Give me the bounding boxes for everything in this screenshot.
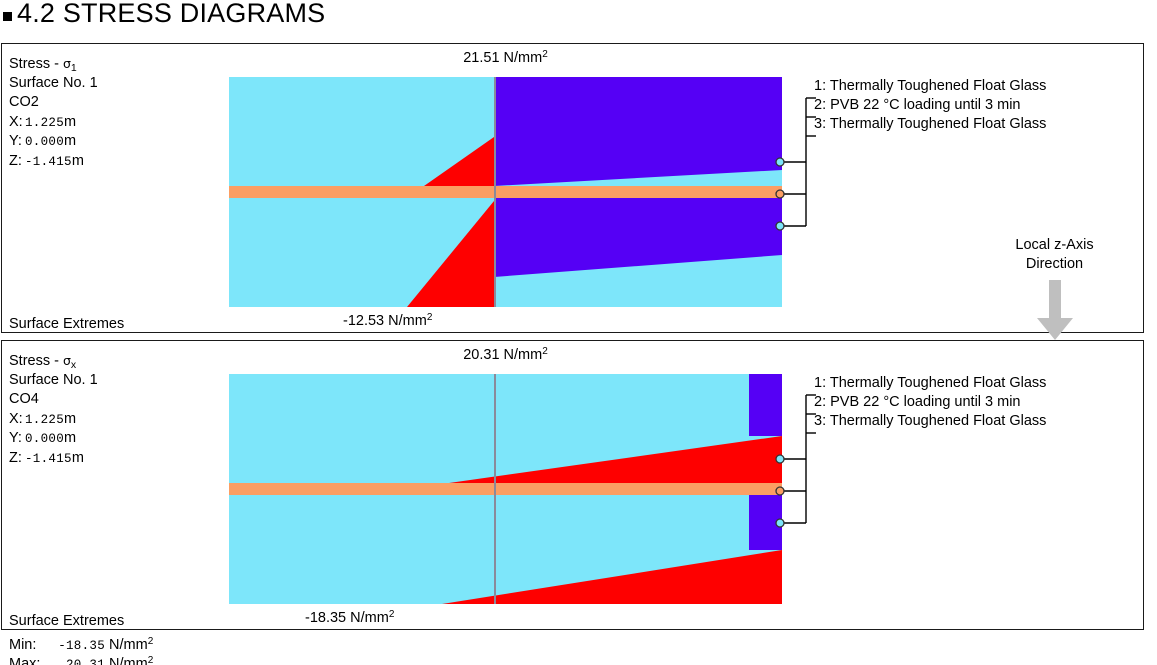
coord-y-unit: m xyxy=(64,430,76,446)
chart-min-label-wrap: -18.35 N/mm2 xyxy=(305,609,394,626)
coord-y-axis: Y: xyxy=(9,429,25,449)
min-label-exponent: 2 xyxy=(427,312,433,323)
layer-marker-bottom-icon xyxy=(776,222,784,230)
coord-z-unit: m xyxy=(72,450,84,466)
extremes-max-unit: N/mm xyxy=(109,656,148,665)
zero-stress-axis xyxy=(494,374,496,604)
stress-symbol: σ xyxy=(63,353,71,368)
coord-z-axis: Z: xyxy=(9,152,25,172)
coord-y-axis: Y: xyxy=(9,132,25,152)
stress-diagram-panel: Stress - σx Surface No. 1 CO4 X:1.225m Y… xyxy=(1,340,1144,630)
z-axis-title-line1: Local z-Axis xyxy=(967,236,1142,255)
negative-stress-lower xyxy=(442,550,782,604)
stress-subscript: x xyxy=(71,359,76,371)
extremes-max-key: Max: xyxy=(9,655,47,665)
z-axis-title-line2: Direction xyxy=(967,255,1142,274)
chart-min-label: -12.53 N/mm xyxy=(343,313,427,329)
extremes-max-value: 20.31 xyxy=(47,656,105,665)
legend-item-1: 1: Thermally Toughened Float Glass xyxy=(814,374,1046,393)
stress-type-label: Stress - xyxy=(9,353,63,369)
coord-y-value: 0.000 xyxy=(25,432,64,446)
coord-z-row: Z:-1.415m xyxy=(9,152,98,172)
chart-max-label-wrap: 20.31 N/mm2 xyxy=(229,346,782,363)
layer-marker-bottom-icon xyxy=(776,519,784,527)
stress-chart xyxy=(229,77,782,307)
stress-type-row: Stress - σx xyxy=(9,351,98,371)
surface-label: Surface No. 1 xyxy=(9,371,98,391)
stress-chart xyxy=(229,374,782,604)
coord-z-axis: Z: xyxy=(9,449,25,469)
down-arrow-icon xyxy=(1035,280,1075,340)
coord-z-unit: m xyxy=(72,153,84,169)
extremes-title: Surface Extremes xyxy=(9,612,153,632)
min-label-exponent: 2 xyxy=(389,609,395,620)
positive-stress-lower xyxy=(494,198,782,277)
legend-item-3: 3: Thermally Toughened Float Glass xyxy=(814,115,1046,134)
legend-item-1: 1: Thermally Toughened Float Glass xyxy=(814,77,1046,96)
chart-min-label: -18.35 N/mm xyxy=(305,610,389,626)
coord-y-unit: m xyxy=(64,133,76,149)
max-label-exponent: 2 xyxy=(542,49,548,60)
extremes-title: Surface Extremes xyxy=(9,315,153,335)
result-info-block: Stress - σx Surface No. 1 CO4 X:1.225m Y… xyxy=(9,351,98,468)
layer-marker-top-icon xyxy=(776,158,784,166)
stress-diagrams-page: 4.2 STRESS DIAGRAMS Stress - σ1 Surface … xyxy=(0,0,1157,665)
zero-stress-axis xyxy=(494,77,496,307)
stress-subscript: 1 xyxy=(71,62,77,74)
stress-diagram-panel: Stress - σ1 Surface No. 1 CO2 X:1.225m Y… xyxy=(1,43,1144,333)
extremes-min-row: Min:-18.35 N/mm2 xyxy=(9,632,153,652)
coord-y-row: Y:0.000m xyxy=(9,429,98,449)
coord-x-row: X:1.225m xyxy=(9,410,98,430)
chart-max-label-wrap: 21.51 N/mm2 xyxy=(229,49,782,66)
extremes-max-row: Max:20.31 N/mm2 xyxy=(9,651,153,665)
chart-max-label: 20.31 N/mm xyxy=(463,347,542,363)
layer-marker-mid-icon xyxy=(776,487,784,495)
coord-z-value: -1.415 xyxy=(25,452,72,466)
positive-stress-upper xyxy=(494,77,782,186)
chart-max-label: 21.51 N/mm xyxy=(463,50,542,66)
square-bullet-icon xyxy=(3,12,12,21)
legend-item-3: 3: Thermally Toughened Float Glass xyxy=(814,412,1046,431)
page-header: 4.2 STRESS DIAGRAMS xyxy=(0,0,1157,40)
coord-x-value: 1.225 xyxy=(25,413,64,427)
coord-x-axis: X: xyxy=(9,113,25,133)
layer-marker-mid-icon xyxy=(776,190,784,198)
pvb-interlayer xyxy=(229,186,782,198)
coord-x-row: X:1.225m xyxy=(9,113,98,133)
legend-item-2: 2: PVB 22 °C loading until 3 min xyxy=(814,393,1046,412)
surface-extremes-block: Surface Extremes Min:-18.35 N/mm2 Max:20… xyxy=(9,612,153,665)
load-case-label: CO2 xyxy=(9,93,98,113)
coord-x-unit: m xyxy=(64,114,76,130)
surface-label: Surface No. 1 xyxy=(9,74,98,94)
layer-marker-top-icon xyxy=(776,455,784,463)
coord-x-value: 1.225 xyxy=(25,116,64,130)
layer-legend: 1: Thermally Toughened Float Glass 2: PV… xyxy=(814,374,1046,431)
stress-type-row: Stress - σ1 xyxy=(9,54,98,74)
pvb-interlayer xyxy=(229,483,782,495)
result-info-block: Stress - σ1 Surface No. 1 CO2 X:1.225m Y… xyxy=(9,54,98,171)
coord-y-value: 0.000 xyxy=(25,135,64,149)
negative-stress-upper xyxy=(424,137,494,186)
coord-z-value: -1.415 xyxy=(25,155,72,169)
negative-stress-upper xyxy=(449,436,782,483)
load-case-label: CO4 xyxy=(9,390,98,410)
negative-stress-lower xyxy=(407,201,494,307)
page-title: 4.2 STRESS DIAGRAMS xyxy=(17,0,325,29)
coord-x-axis: X: xyxy=(9,410,25,430)
max-label-exponent: 2 xyxy=(542,346,548,357)
chart-min-label-wrap: -12.53 N/mm2 xyxy=(343,312,432,329)
stress-symbol: σ xyxy=(63,56,71,71)
min-unit-exponent: 2 xyxy=(148,636,154,647)
stress-type-label: Stress - xyxy=(9,56,63,72)
coord-z-row: Z:-1.415m xyxy=(9,449,98,469)
max-unit-exponent: 2 xyxy=(148,655,154,665)
coord-x-unit: m xyxy=(64,411,76,427)
coord-y-row: Y:0.000m xyxy=(9,132,98,152)
legend-item-2: 2: PVB 22 °C loading until 3 min xyxy=(814,96,1046,115)
layer-legend: 1: Thermally Toughened Float Glass 2: PV… xyxy=(814,77,1046,134)
